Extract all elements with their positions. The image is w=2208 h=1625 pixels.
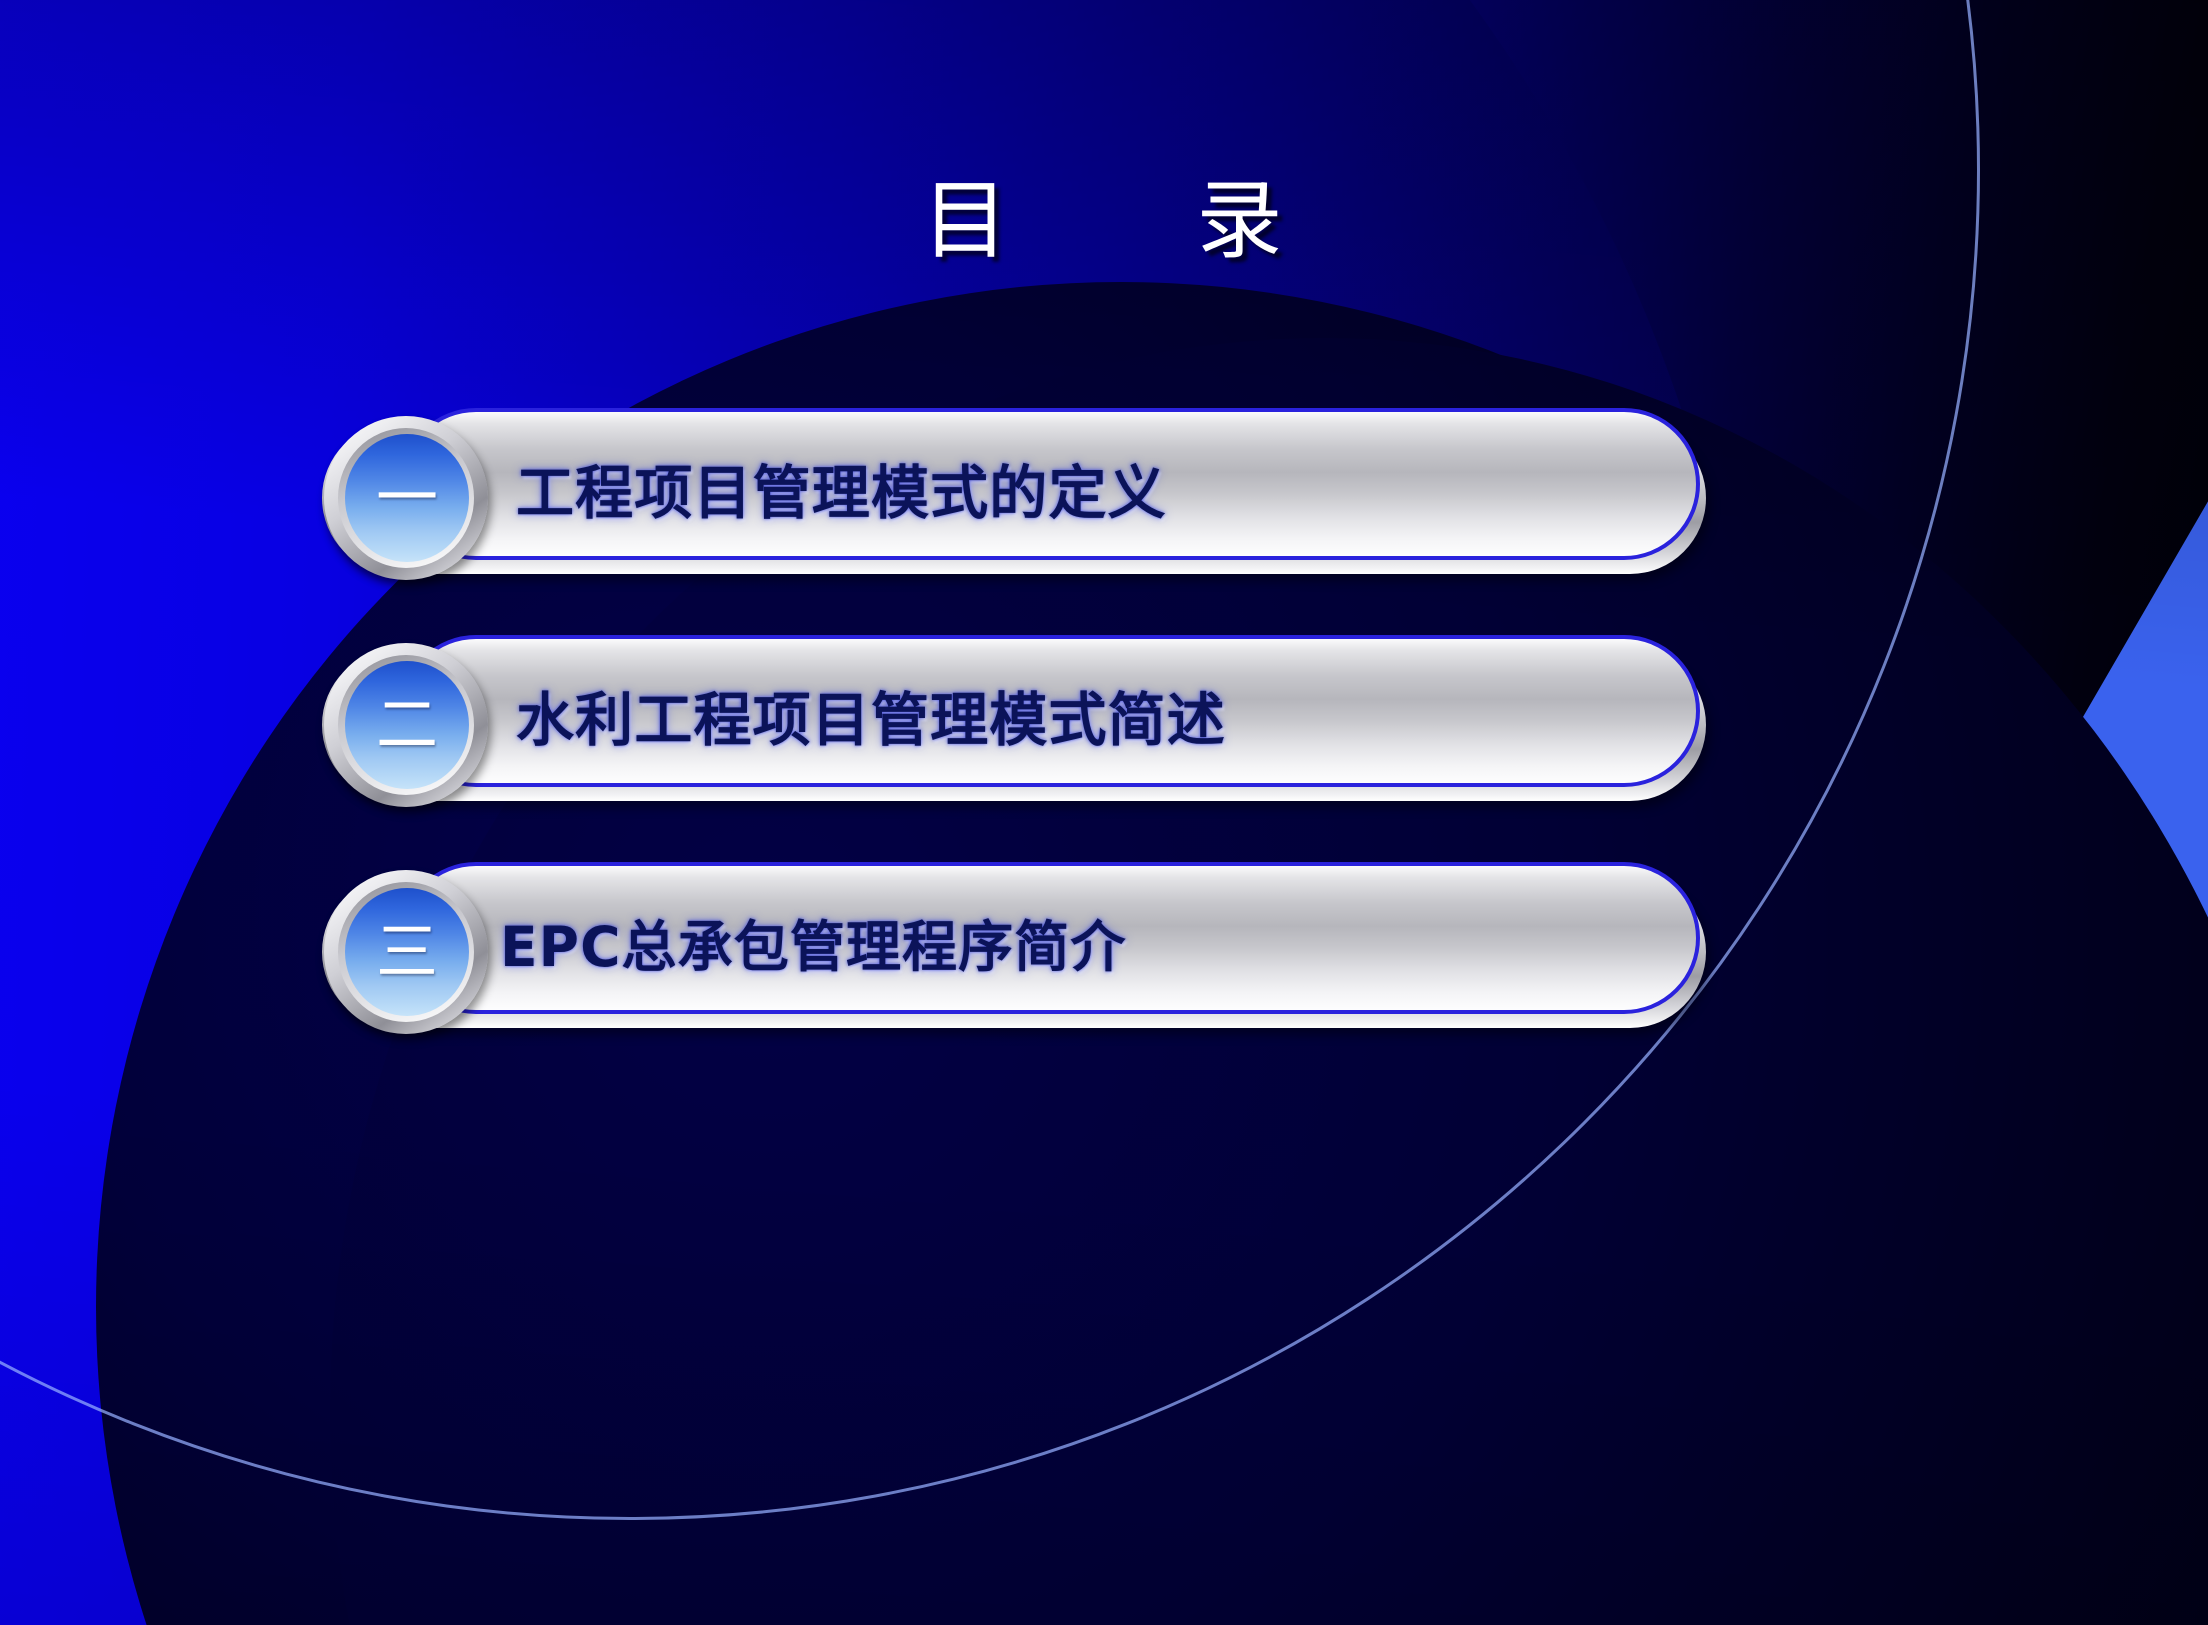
badge-disc-3: 三: [345, 888, 469, 1016]
presentation-slide: 目 录 工程项目管理模式的定义 一 水利工程项目管理模式简述: [0, 0, 2208, 1625]
agenda-number-badge-2: 二: [324, 643, 488, 807]
pill-inner-panel-2[interactable]: 水利工程项目管理模式简述: [400, 635, 1700, 787]
pill-inner-panel-3[interactable]: EPC总承包管理程序简介: [400, 862, 1700, 1014]
agenda-number-badge-3: 三: [324, 870, 488, 1034]
agenda-item-label-1: 工程项目管理模式的定义: [516, 412, 1167, 564]
agenda-item-label-2: 水利工程项目管理模式简述: [516, 639, 1226, 791]
badge-disc-2: 二: [345, 661, 469, 789]
agenda-number-1: 一: [376, 467, 438, 529]
agenda-number-3: 三: [376, 921, 438, 983]
agenda-number-badge-1: 一: [324, 416, 488, 580]
agenda-item-label-3: EPC总承包管理程序简介: [500, 866, 1126, 1018]
badge-disc-1: 一: [345, 434, 469, 562]
page-title: 目 录: [0, 178, 2208, 264]
pill-inner-panel-1[interactable]: 工程项目管理模式的定义: [400, 408, 1700, 560]
agenda-number-2: 二: [376, 694, 438, 756]
